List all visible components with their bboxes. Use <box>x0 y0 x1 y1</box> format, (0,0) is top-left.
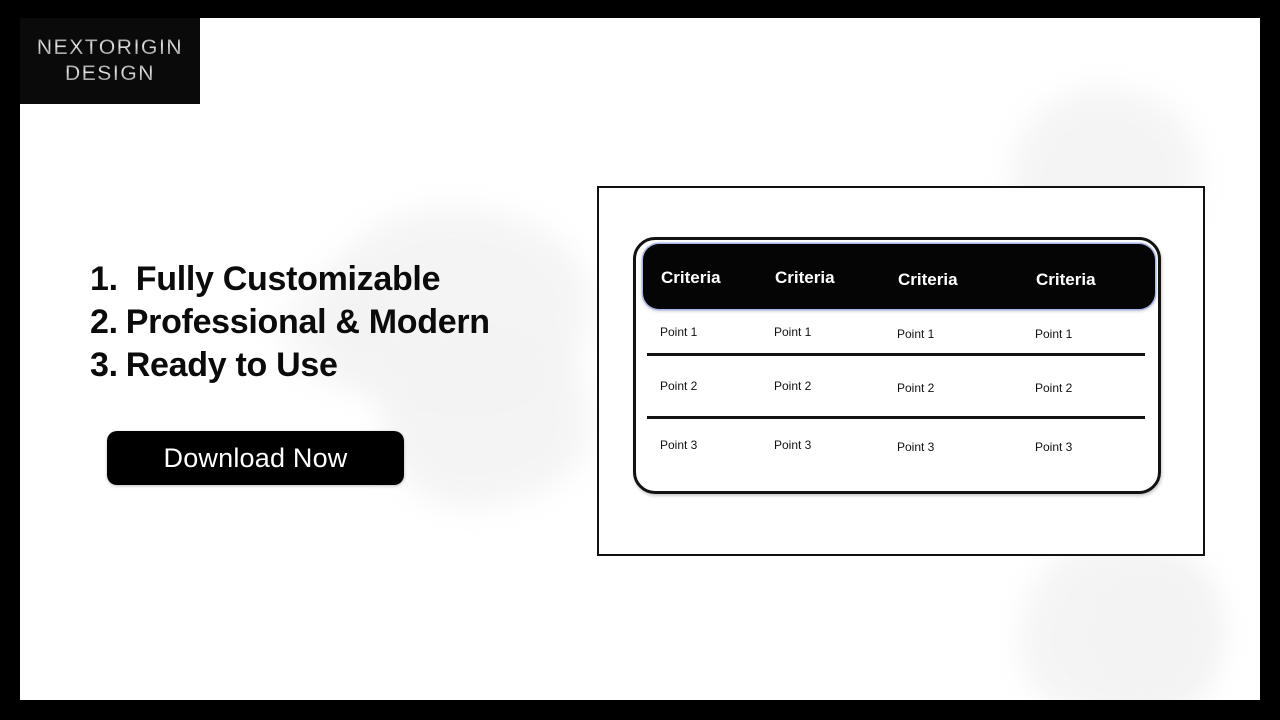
table-row-divider <box>647 353 1145 356</box>
download-now-button[interactable]: Download Now <box>107 431 404 485</box>
feature-label: Professional & Modern <box>126 301 490 344</box>
brand-logo-line-1: NEXTORIGIN <box>37 35 183 61</box>
list-item: 1. Fully Customizable <box>90 258 490 301</box>
table-body: Point 1 Point 1 Point 1 Point 1 Point 2 … <box>633 309 1161 494</box>
slide-stage: 1. Fully Customizable 2. Professional & … <box>0 0 1280 720</box>
table-cell: Point 3 <box>774 438 811 452</box>
slide-canvas: 1. Fully Customizable 2. Professional & … <box>20 18 1260 700</box>
feature-number: 2. <box>90 301 118 344</box>
table-cell: Point 1 <box>897 327 934 341</box>
table-cell: Point 2 <box>660 379 697 393</box>
feature-list: 1. Fully Customizable 2. Professional & … <box>90 258 490 387</box>
table-cell: Point 2 <box>897 381 934 395</box>
brand-logo-line-2: DESIGN <box>65 61 155 87</box>
feature-label: Fully Customizable <box>136 258 440 301</box>
table-column-header: Criteria <box>1036 270 1096 290</box>
table-cell: Point 3 <box>897 440 934 454</box>
background-watermark-blob <box>1080 558 1220 700</box>
download-now-button-label: Download Now <box>164 443 348 474</box>
table-header-row: Criteria Criteria Criteria Criteria <box>643 244 1155 309</box>
table-cell: Point 1 <box>774 325 811 339</box>
table-cell: Point 2 <box>774 379 811 393</box>
table-cell: Point 1 <box>1035 327 1072 341</box>
list-item: 2. Professional & Modern <box>90 301 490 344</box>
table-cell: Point 2 <box>1035 381 1072 395</box>
table-cell: Point 3 <box>660 438 697 452</box>
table-column-header: Criteria <box>898 270 958 290</box>
brand-logo: NEXTORIGIN DESIGN <box>20 18 200 104</box>
table-column-header: Criteria <box>775 268 835 288</box>
feature-number: 1. <box>90 258 118 301</box>
list-item: 3. Ready to Use <box>90 344 490 387</box>
table-cell: Point 3 <box>1035 440 1072 454</box>
feature-label: Ready to Use <box>126 344 338 387</box>
table-column-header: Criteria <box>661 268 721 288</box>
table-row-divider <box>647 416 1145 419</box>
feature-number: 3. <box>90 344 118 387</box>
background-watermark-blob <box>1020 538 1220 700</box>
table-cell: Point 1 <box>660 325 697 339</box>
